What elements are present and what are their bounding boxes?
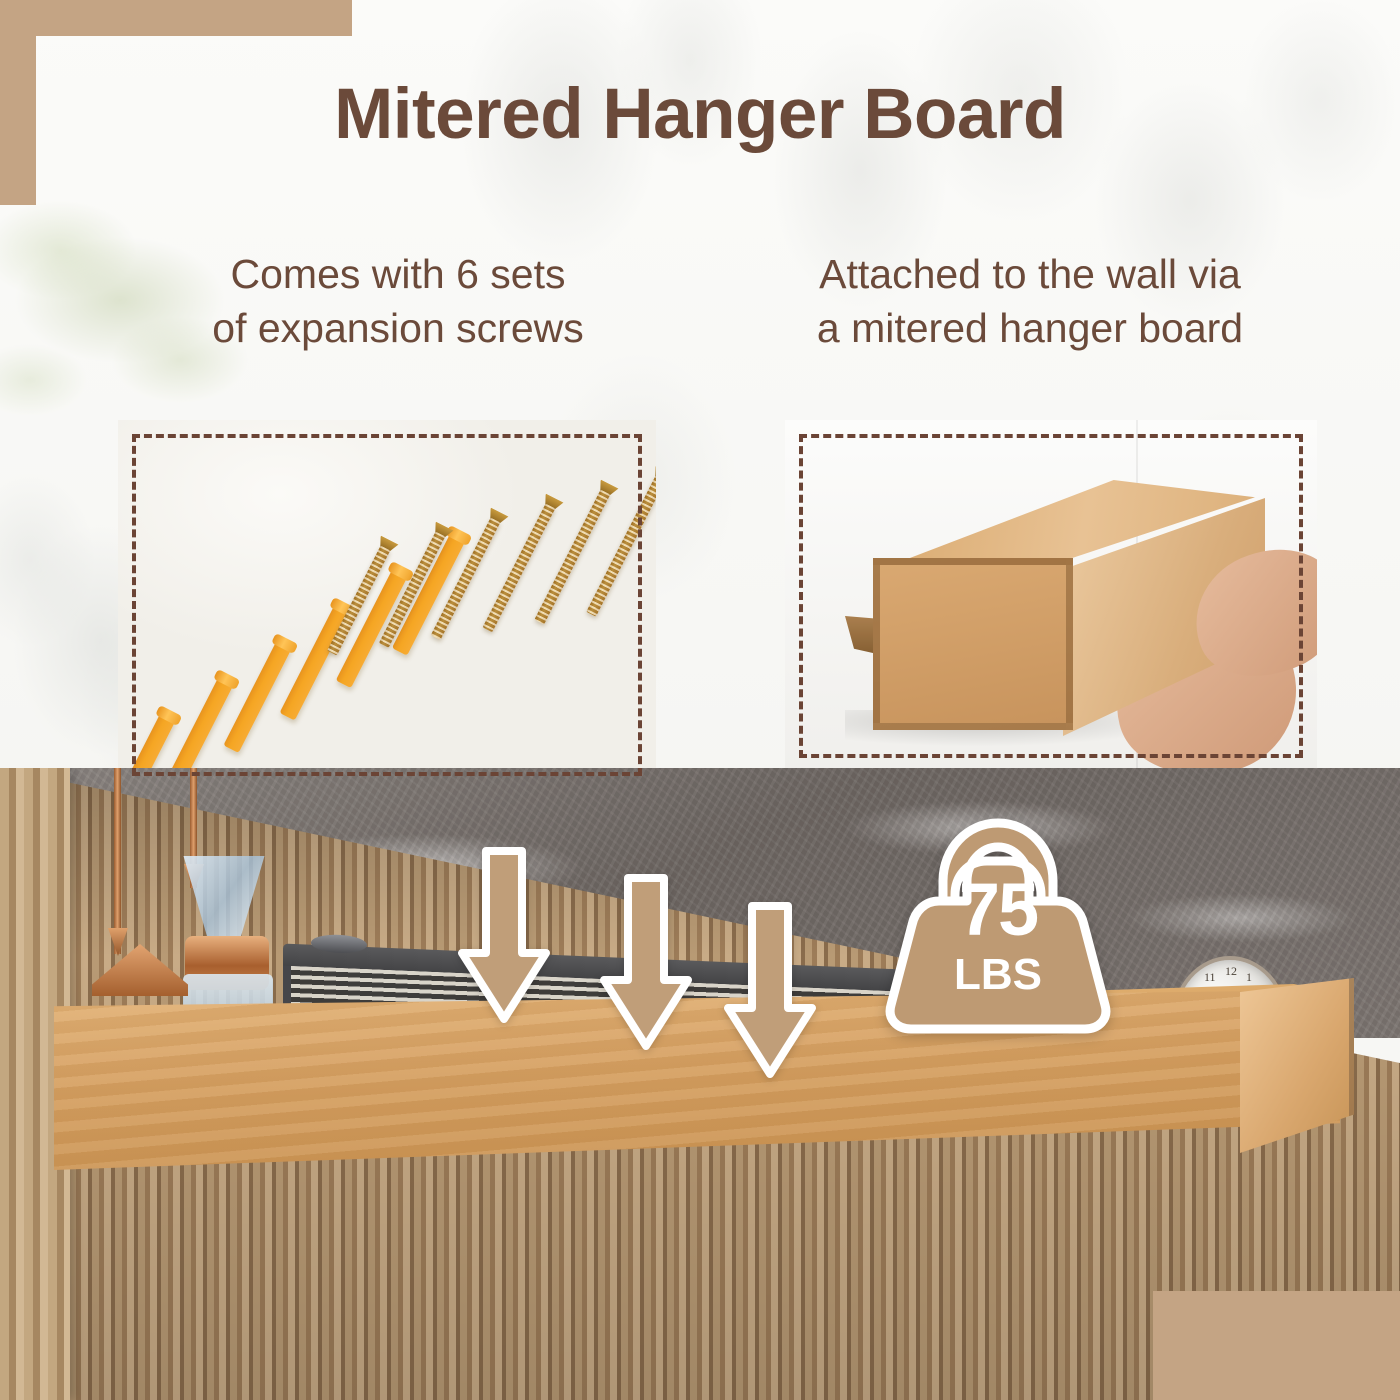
feature-caption-mounting: Attached to the wall via a mitered hange…	[700, 247, 1360, 355]
clock-numeral: 12	[1225, 964, 1237, 979]
feature-caption-mounting-line2: a mitered hanger board	[700, 301, 1360, 355]
corner-decoration-top-left-horizontal	[0, 0, 352, 36]
weight-unit: LBS	[883, 953, 1113, 997]
load-arrow-3	[722, 900, 818, 1080]
feature-caption-screws: Comes with 6 sets of expansion screws	[108, 247, 688, 355]
weight-capacity-badge: 75 LBS	[883, 815, 1113, 1040]
load-arrow-2	[598, 872, 694, 1052]
infographic-page: Mitered Hanger Board Comes with 6 sets o…	[0, 0, 1400, 1400]
shelf-front-face	[873, 558, 1073, 730]
clock-numeral: 11	[1204, 970, 1216, 985]
feature-photo-mounting	[785, 420, 1317, 772]
page-title: Mitered Hanger Board	[0, 78, 1400, 153]
feature-photo-screws	[118, 420, 656, 790]
clock-numeral: 1	[1246, 970, 1252, 985]
corner-decoration-bottom-right	[1153, 1291, 1400, 1400]
feature-caption-screws-line1: Comes with 6 sets	[108, 247, 688, 301]
load-arrow-1	[456, 845, 552, 1025]
feature-caption-screws-line2: of expansion screws	[108, 301, 688, 355]
copper-rod-tall	[114, 768, 121, 954]
weight-value: 75	[883, 873, 1113, 947]
feature-caption-mounting-line1: Attached to the wall via	[700, 247, 1360, 301]
